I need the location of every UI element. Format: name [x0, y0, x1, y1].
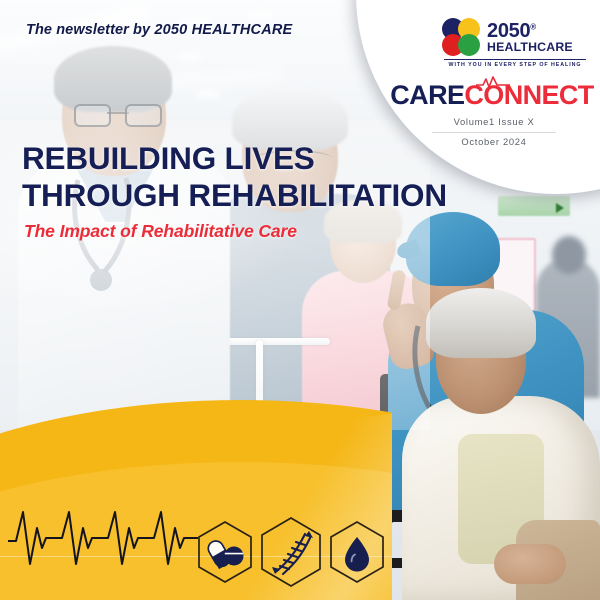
issue-date: October 2024 — [432, 136, 556, 147]
headline-line-1: REBUILDING LIVES — [22, 140, 315, 176]
four-circles-logo-icon — [442, 18, 480, 56]
page-subtitle: The Impact of Rehabilitative Care — [24, 221, 452, 242]
brand-name-2050: 2050® — [487, 21, 573, 41]
patient-hair — [426, 288, 536, 358]
strap-brand: 2050 HEALTHCARE — [154, 22, 292, 38]
dna-icon[interactable] — [258, 516, 324, 588]
footer-icon-row — [196, 516, 386, 588]
pills-icon[interactable] — [196, 520, 254, 584]
newsletter-strap: The newsletter by 2050 HEALTHCARE — [26, 22, 292, 38]
masthead-title-care: CARE — [390, 80, 464, 110]
headline-line-2: THROUGH REHABILITATION — [22, 177, 447, 213]
brand-name-healthcare: HEALTHCARE — [487, 41, 573, 53]
logo-circle-green — [458, 34, 480, 56]
brand-tagline: WITH YOU IN EVERY STEP OF HEALING — [444, 59, 586, 68]
patient-hands — [494, 544, 566, 584]
blood-drop-icon[interactable] — [328, 520, 386, 584]
issue-label: Volume1 Issue X — [432, 116, 556, 133]
brand-wordmark: 2050® HEALTHCARE — [487, 21, 573, 53]
masthead-block: 2050® HEALTHCARE WITH YOU IN EVERY STEP … — [384, 8, 600, 158]
strap-prefix: The newsletter by — [26, 22, 154, 38]
brand-logo[interactable]: 2050® HEALTHCARE — [442, 18, 573, 56]
newsletter-cover: The newsletter by 2050 HEALTHCARE REBUIL… — [0, 0, 600, 600]
heartbeat-icon — [476, 76, 510, 88]
registered-mark: ® — [530, 22, 536, 31]
heartbeat-line-icon — [8, 508, 198, 574]
